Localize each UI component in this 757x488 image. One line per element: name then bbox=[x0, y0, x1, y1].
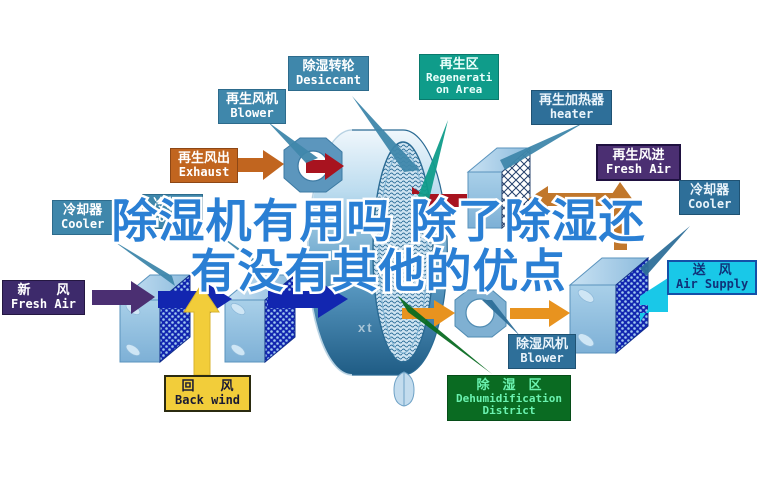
leader-regen-blower bbox=[268, 122, 318, 163]
leader-regen-area bbox=[418, 120, 448, 204]
label-dehum-blower[interactable]: 除湿风机 Blower bbox=[508, 334, 576, 369]
label-regen-blower-en: Blower bbox=[226, 107, 278, 120]
label-exhaust-cn: 再生风出 bbox=[178, 152, 230, 166]
label-regen-heater-en: heater bbox=[539, 108, 604, 121]
label-regen-area-cn: 再生区 bbox=[426, 58, 492, 72]
label-regen-fresh-air[interactable]: 再生风进 Fresh Air bbox=[596, 144, 681, 181]
label-desiccant[interactable]: 除湿转轮 Desiccant bbox=[288, 56, 369, 91]
headline-overlay: 除湿机有用吗 除了除湿还 有没有其他的优点 bbox=[0, 196, 757, 296]
dehumidifier-process-diagram: 除湿转轮 Desiccant 再生风机 Blower 再生区 Regenerat… bbox=[0, 0, 757, 488]
leader-dehum-blower bbox=[482, 300, 520, 336]
label-regen-area[interactable]: 再生区 Regenerati on Area bbox=[419, 54, 499, 100]
label-fresh-air-en: Fresh Air bbox=[11, 298, 76, 311]
label-regen-heater-cn: 再生加热器 bbox=[539, 94, 604, 108]
label-desiccant-cn: 除湿转轮 bbox=[296, 60, 361, 74]
label-regen-blower-cn: 再生风机 bbox=[226, 93, 278, 107]
label-regen-fresh-air-en: Fresh Air bbox=[606, 163, 671, 176]
label-dehum-district-cn: 除 湿 区 bbox=[456, 379, 562, 393]
label-dehum-district[interactable]: 除 湿 区 Dehumidification District bbox=[447, 375, 571, 421]
label-back-wind-cn: 回 风 bbox=[175, 380, 240, 394]
leader-dehum-district bbox=[398, 296, 492, 374]
label-regen-area-en2: on Area bbox=[426, 84, 492, 96]
watermark: xt bbox=[358, 320, 374, 335]
label-back-wind-en: Back wind bbox=[175, 394, 240, 407]
leader-heater bbox=[500, 122, 585, 170]
label-exhaust[interactable]: 再生风出 Exhaust bbox=[170, 148, 238, 183]
leader-desiccant bbox=[352, 96, 420, 172]
headline-line-1: 除湿机有用吗 除了除湿还 bbox=[0, 196, 757, 246]
label-dehum-district-en2: District bbox=[456, 405, 562, 417]
label-dehum-blower-en: Blower bbox=[516, 352, 568, 365]
label-regen-fresh-air-cn: 再生风进 bbox=[606, 149, 671, 163]
label-regen-heater[interactable]: 再生加热器 heater bbox=[531, 90, 612, 125]
label-dehum-blower-cn: 除湿风机 bbox=[516, 338, 568, 352]
headline-line-2: 有没有其他的优点 bbox=[0, 246, 757, 296]
label-desiccant-en: Desiccant bbox=[296, 74, 361, 87]
label-regen-blower[interactable]: 再生风机 Blower bbox=[218, 89, 286, 124]
label-exhaust-en: Exhaust bbox=[178, 166, 230, 179]
label-back-wind[interactable]: 回 风 Back wind bbox=[164, 375, 251, 412]
